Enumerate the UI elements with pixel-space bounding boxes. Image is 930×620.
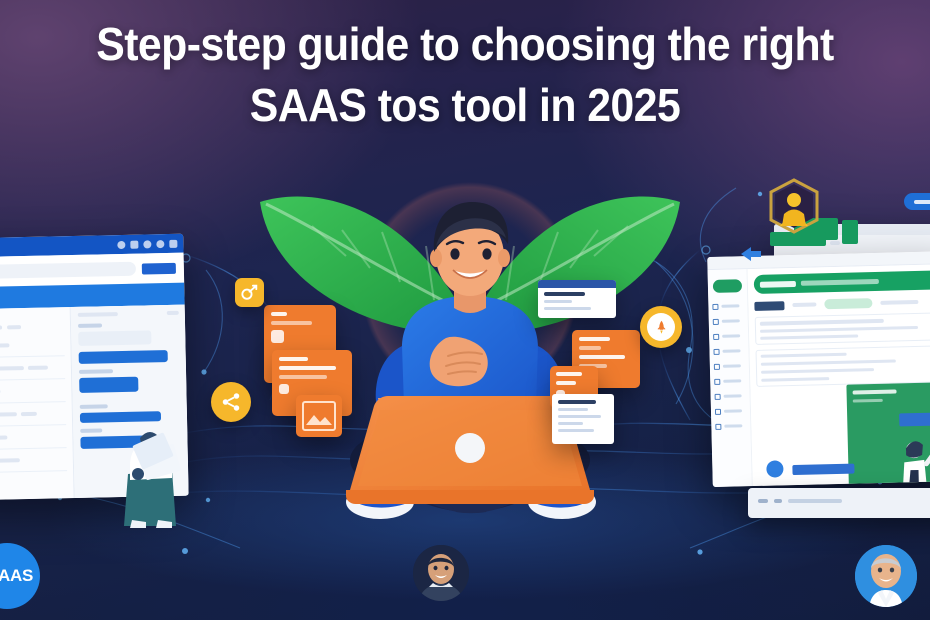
sidebar-item-messages[interactable]: [709, 343, 748, 359]
table-row[interactable]: [0, 402, 66, 427]
report-icon: [715, 408, 721, 414]
chat-date-label: [80, 428, 102, 432]
menu-icon[interactable]: [169, 239, 177, 247]
sidebar-item-settings[interactable]: [711, 418, 750, 434]
hero-title-line-2: SAAS tos tool in 2025: [33, 75, 898, 136]
chat-fab-button[interactable]: [766, 460, 783, 477]
filter-chip[interactable]: [7, 325, 21, 329]
folder-icon: [715, 393, 721, 399]
right-window-tray: [748, 488, 930, 518]
share-network-icon: [220, 391, 242, 413]
sidebar-item-documents[interactable]: [709, 328, 748, 344]
cart-icon[interactable]: [130, 240, 138, 248]
avatar-right-face: [855, 545, 917, 607]
table-row[interactable]: [0, 333, 65, 358]
cta-pill-button[interactable]: [904, 193, 930, 210]
record-list[interactable]: [0, 307, 75, 500]
dashboard-stats-row: [754, 296, 930, 311]
green-sticky-card: [842, 220, 858, 244]
floating-orange-card[interactable]: [296, 395, 342, 437]
chat-date-label: [79, 369, 113, 374]
dashboard-content: [748, 264, 930, 486]
target-badge[interactable]: [235, 278, 264, 307]
avatar-center-face: [413, 545, 469, 601]
rocket-badge[interactable]: [640, 306, 682, 348]
chat-date-label: [78, 323, 102, 328]
search-input[interactable]: [0, 262, 136, 280]
green-panel-people: [883, 421, 930, 487]
dashboard-card[interactable]: [755, 312, 930, 345]
hero-banner: Step-step guide to choosing the right SA…: [0, 0, 930, 620]
sidebar-item-contacts[interactable]: [710, 358, 749, 374]
rocket-icon: [654, 320, 669, 335]
sidebar-item-home[interactable]: [708, 298, 747, 314]
target-icon: [241, 284, 258, 301]
arrow-badge-icon: [741, 246, 761, 262]
filter-chip[interactable]: [0, 325, 2, 329]
image-placeholder-icon: [302, 401, 336, 431]
contacts-icon: [714, 363, 720, 369]
sidebar-item-calendar[interactable]: [710, 373, 749, 389]
left-illustration-person: [118, 408, 184, 528]
dashboard-banner[interactable]: [754, 270, 930, 294]
sidebar-item-analytics[interactable]: [709, 313, 748, 329]
hero-title: Step-step guide to choosing the right SA…: [0, 14, 930, 135]
chat-bubble[interactable]: [79, 377, 138, 393]
hero-title-line-1: Step-step guide to choosing the right: [33, 14, 898, 75]
right-dashboard-window[interactable]: [700, 232, 930, 512]
chart-icon: [713, 318, 719, 324]
avatar-center-person[interactable]: [413, 545, 469, 601]
dashboard-card[interactable]: [756, 345, 930, 387]
gear-icon: [715, 423, 721, 429]
dashboard-sidebar[interactable]: [708, 269, 753, 487]
grid-icon[interactable]: [143, 240, 151, 248]
table-row[interactable]: [0, 448, 67, 473]
calendar-icon: [714, 378, 720, 384]
chat-bubble[interactable]: [79, 350, 168, 364]
floating-white-window[interactable]: [552, 394, 614, 444]
dashboard-submit-button[interactable]: [792, 464, 854, 476]
dashboard-green-panel: [846, 382, 930, 487]
table-row[interactable]: [0, 425, 67, 450]
card-icon: [279, 384, 289, 394]
card-icon: [271, 330, 284, 343]
chat-bubble[interactable]: [78, 330, 151, 346]
floating-white-window[interactable]: [538, 280, 616, 318]
table-row[interactable]: [0, 379, 66, 404]
sidebar-item-folder[interactable]: [710, 388, 749, 404]
home-icon: [712, 303, 718, 309]
sidebar-item-reports[interactable]: [711, 403, 750, 419]
status-badge: [824, 298, 872, 309]
chat-date-label: [80, 404, 108, 409]
bell-icon[interactable]: [117, 240, 125, 248]
primary-action-button[interactable]: [142, 262, 176, 274]
message-icon: [713, 348, 719, 354]
green-sticky-card: [770, 232, 826, 246]
sidebar-logo: [713, 279, 742, 293]
avatar-saas-badge[interactable]: SAAS: [0, 543, 40, 609]
share-badge[interactable]: [211, 382, 251, 422]
avatar-right-person[interactable]: [855, 545, 917, 607]
right-main-window[interactable]: [707, 251, 930, 487]
user-icon[interactable]: [156, 240, 164, 248]
document-icon: [713, 333, 719, 339]
gold-avatar-frame[interactable]: [766, 178, 822, 234]
avatar-saas-label: SAAS: [0, 566, 33, 586]
table-row[interactable]: [0, 356, 65, 381]
